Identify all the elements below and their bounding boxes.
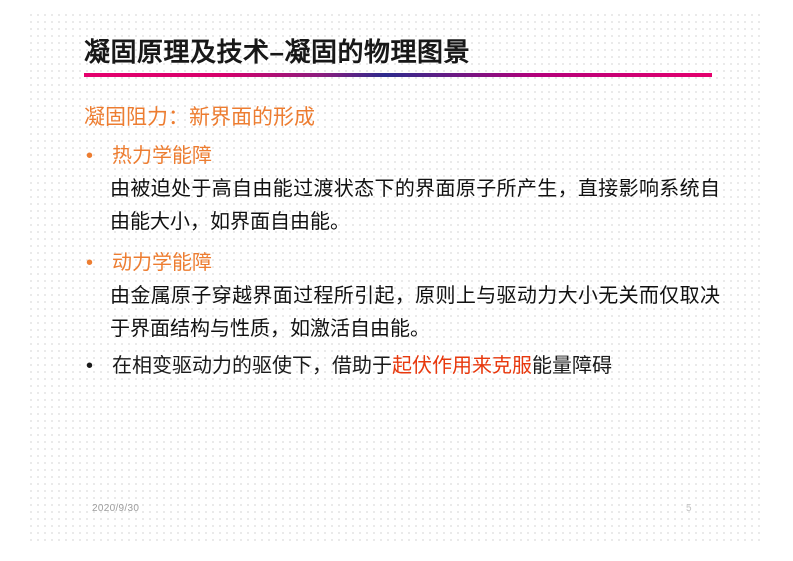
slide-body: 凝固阻力：新界面的形成 • 热力学能障 由被迫处于高自由能过渡状态下的界面原子所… xyxy=(84,104,724,383)
paragraph-thermodynamic-barrier: 由被迫处于高自由能过渡状态下的界面原子所产生，直接影响系统自由能大小，如界面自由… xyxy=(110,173,720,238)
paragraph-kinetic-barrier: 由金属原子穿越界面过程所引起，原则上与驱动力大小无关而仅取决于界面结构与性质，如… xyxy=(110,280,720,345)
title-underline-rule xyxy=(84,73,712,77)
page-title: 凝固原理及技术–凝固的物理图景 xyxy=(84,38,714,68)
bullet-dot-icon: • xyxy=(84,141,112,171)
bullet-dot-icon: • xyxy=(84,351,112,381)
slide-title-block: 凝固原理及技术–凝固的物理图景 xyxy=(84,38,714,77)
bullet-item-thermodynamic-barrier: • 热力学能障 xyxy=(84,141,724,171)
bullet-item-fluctuation: • 在相变驱动力的驱使下，借助于起伏作用来克服能量障碍 xyxy=(84,351,724,381)
bullet-item-kinetic-barrier: • 动力学能障 xyxy=(84,248,724,278)
bullet-heading-label: 动力学能障 xyxy=(112,248,212,278)
footer-page-number: 5 xyxy=(686,503,692,514)
slide-subtitle: 凝固阻力：新界面的形成 xyxy=(84,104,724,132)
footer-date: 2020/9/30 xyxy=(92,503,139,514)
bullet-text-fluctuation: 在相变驱动力的驱使下，借助于起伏作用来克服能量障碍 xyxy=(112,351,612,381)
slide: 凝固原理及技术–凝固的物理图景 凝固阻力：新界面的形成 • 热力学能障 由被迫处… xyxy=(0,0,793,561)
bullet-heading-label: 热力学能障 xyxy=(112,141,212,171)
bullet-dot-icon: • xyxy=(84,248,112,278)
bullet-text-prefix: 在相变驱动力的驱使下，借助于 xyxy=(112,355,392,377)
bullet-text-emphasis: 起伏作用来克服 xyxy=(392,355,532,377)
bullet-text-suffix: 能量障碍 xyxy=(532,355,612,377)
